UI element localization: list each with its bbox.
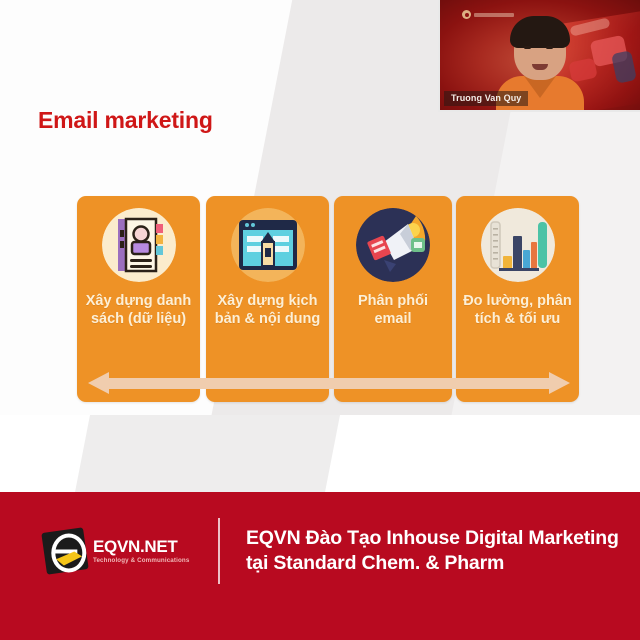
process-card-4-label: Đo lường, phân tích & tối ưu — [460, 292, 575, 329]
banner-divider — [218, 518, 220, 584]
eqvn-logo-tagline: Technology & Communications — [93, 558, 189, 564]
browser-pencil-content-icon — [231, 208, 305, 282]
address-book-contacts-icon — [102, 208, 176, 282]
process-card-2-label: Xây dựng kịch bản & nội dung — [210, 292, 325, 329]
double-headed-progress-arrow — [88, 372, 570, 394]
watermark-mark-icon — [462, 10, 471, 19]
speaker-hair — [510, 16, 570, 48]
process-card-1-label: Xây dựng danh sách (dữ liệu) — [81, 292, 196, 329]
bar-chart-analytics-icon — [481, 208, 555, 282]
arrow-bar — [108, 378, 550, 389]
banner-title-line-2: tại Standard Chem. & Pharm — [246, 551, 619, 576]
slide-title: Email marketing — [38, 107, 213, 134]
speaker-eye-left — [524, 46, 531, 49]
eqvn-logo[interactable]: EQVN.NET Technology & Communications — [44, 525, 194, 577]
megaphone-broadcast-icon — [356, 208, 430, 282]
background-bottom-diagonal-band — [75, 415, 340, 492]
bottom-banner: EQVN.NET Technology & Communications EQV… — [0, 492, 640, 640]
speaker-eye-right — [546, 46, 553, 49]
arrow-head-right-icon — [549, 372, 570, 394]
arrow-head-left-icon — [88, 372, 109, 394]
eqvn-logo-mark-icon — [41, 527, 88, 574]
banner-title-line-1: EQVN Đào Tạo Inhouse Digital Marketing — [246, 526, 619, 551]
eqvn-logo-name: EQVN.NET — [93, 538, 189, 555]
slide-screenshot: Email marketing X — [0, 0, 640, 640]
speaker-name-tag: Truong Van Quy — [444, 91, 528, 106]
banner-title: EQVN Đào Tạo Inhouse Digital Marketing t… — [246, 526, 619, 577]
webcam-video-tile[interactable]: Truong Van Quy — [438, 0, 640, 112]
process-card-3-label: Phân phối email — [338, 292, 448, 329]
